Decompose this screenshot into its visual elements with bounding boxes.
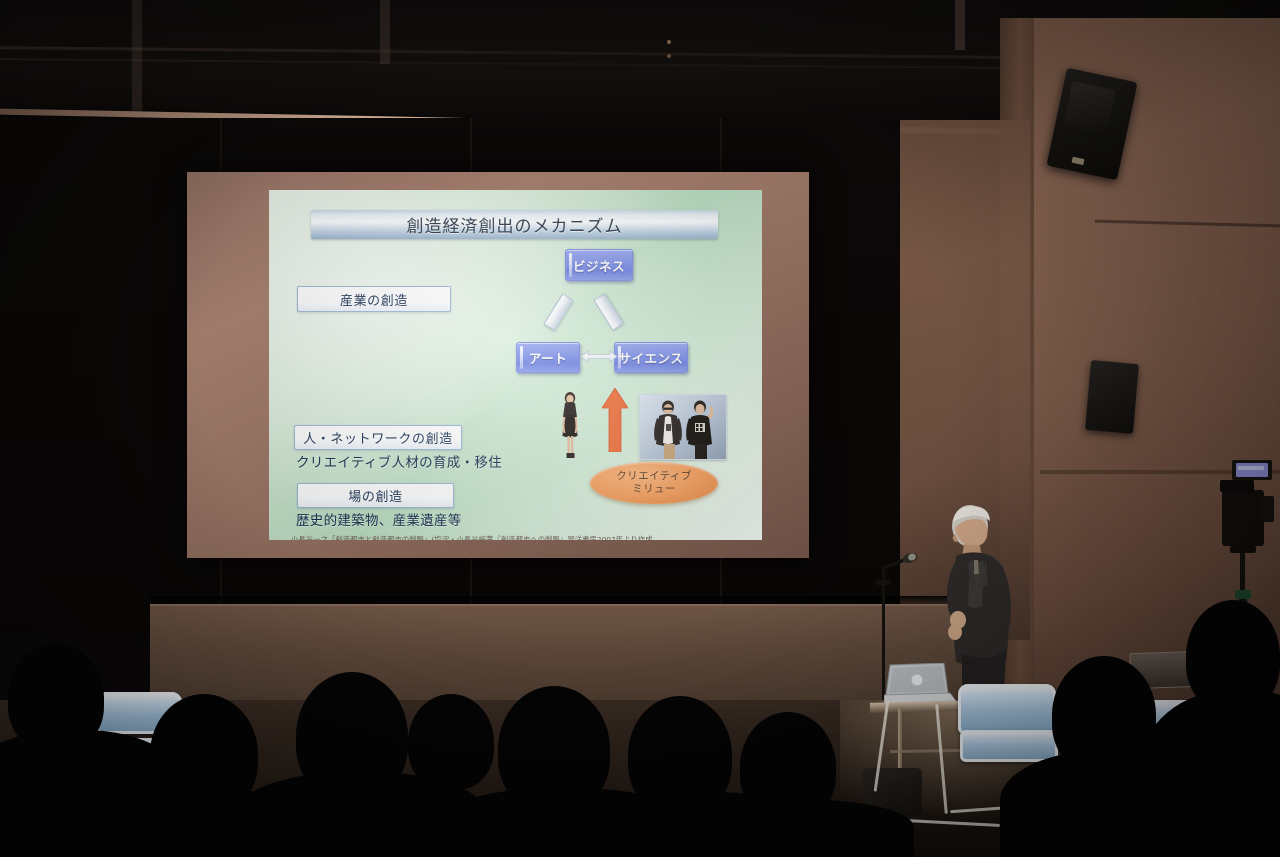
ceiling-indicator-lights: [667, 40, 671, 44]
milieu-line-2: ミリュー: [632, 483, 676, 496]
speaker-badge: [1072, 157, 1085, 165]
node-business: ビジネス: [565, 249, 633, 281]
ceiling-post: [955, 0, 965, 50]
slide-source-credit: 小長谷一之「創造都市と創造都市の戦略」(塩沢・小長谷編著『創造都市への戦略』晃洋…: [291, 534, 751, 540]
stage-chair-back: [958, 684, 1056, 734]
macbook-laptop[interactable]: [884, 663, 958, 705]
creative-milieu-ellipse: クリエイティブ ミリュー: [590, 462, 718, 504]
standing-woman-photo: [552, 390, 588, 462]
wall-mounted-speaker-lower: [1085, 360, 1139, 434]
audience-head: [408, 694, 494, 790]
subtext-creative-talent: クリエイティブ人材の育成・移住: [296, 451, 502, 471]
lecture-hall-photo: 創造経済創出のメカニズム 産業の創造 人・ネットワークの創造 クリエイティブ人材…: [0, 0, 1280, 857]
slide-title-bar: 創造経済創出のメカニズム: [311, 210, 718, 239]
projection-screen: 創造経済創出のメカニズム 産業の創造 人・ネットワークの創造 クリエイティブ人材…: [187, 172, 809, 558]
node-science: サイエンス: [614, 342, 688, 373]
milieu-upward-arrow: [602, 388, 628, 452]
label-box-industry-creation: 産業の創造: [297, 286, 451, 312]
label-box-place-creation: 場の創造: [297, 483, 454, 508]
ceiling-post: [380, 0, 390, 64]
milieu-line-1: クリエイティブ: [616, 470, 691, 483]
node-art: アート: [516, 342, 580, 373]
presentation-slide: 創造経済創出のメカニズム 産業の創造 人・ネットワークの創造 クリエイティブ人材…: [269, 190, 762, 540]
business-to-art-arrow: [543, 293, 573, 330]
label-box-people-network-creation: 人・ネットワークの創造: [294, 425, 462, 450]
business-to-science-arrow: [593, 293, 623, 330]
slide-title-text: 創造経済創出のメカニズム: [407, 212, 623, 237]
art-science-double-arrow: [581, 350, 617, 363]
stage-chair-seat: [960, 730, 1058, 762]
subtext-historic-buildings: 歴史的建築物、産業遺産等: [296, 509, 462, 529]
audience-shoulders: [694, 800, 914, 857]
speaker-grille: [1063, 81, 1116, 135]
two-young-people-photo: [639, 394, 727, 460]
